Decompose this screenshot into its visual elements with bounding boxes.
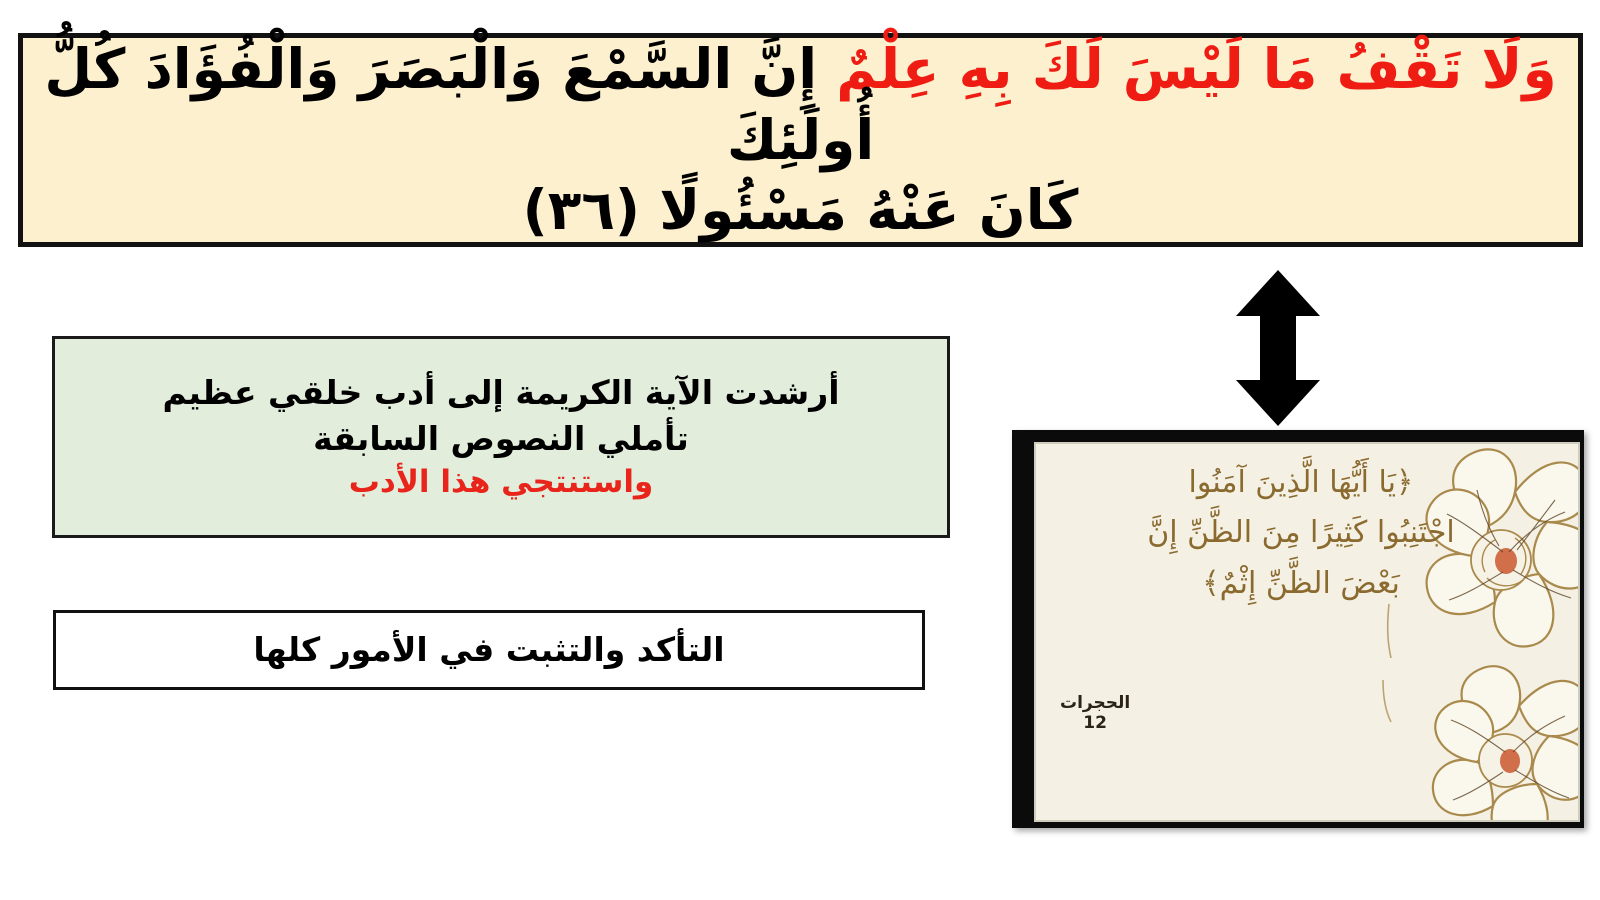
guidance-line-1: أرشدت الآية الكريمة إلى أدب خلقي عظيم: [81, 370, 921, 416]
double-headed-vertical-arrow-icon: [1232, 268, 1324, 428]
guidance-line-3-accent: واستنتجي هذا الأدب: [81, 461, 921, 504]
quran-card-inner: ﴿يَا أَيُّهَا الَّذِينَ آمَنُوا اجْتَنِب…: [1034, 442, 1580, 822]
quran-verse-line-1: ﴿يَا أَيُّهَا الَّذِينَ آمَنُوا: [1050, 458, 1552, 508]
guidance-green-box: أرشدت الآية الكريمة إلى أدب خلقي عظيم تأ…: [52, 336, 950, 538]
guidance-line-2: تأملي النصوص السابقة: [81, 416, 921, 462]
quran-source-reference: الحجرات 12: [1060, 693, 1130, 734]
quran-verse-text: ﴿يَا أَيُّهَا الَّذِينَ آمَنُوا اجْتَنِب…: [1036, 458, 1578, 609]
answer-text: التأكد والتثبت في الأمور كلها: [253, 630, 724, 670]
ayah-rest-phrase: إِنَّ السَّمْعَ وَالْبَصَرَ وَالْفُؤَادَ…: [44, 37, 874, 171]
ayah-banner-text: وَلَا تَقْفُ مَا لَيْسَ لَكَ بِهِ عِلْمٌ…: [37, 34, 1564, 245]
quran-verse-line-3: بَعْضَ الظَّنِّ إِثْمٌ﴾: [1050, 559, 1552, 609]
quran-verse-line-2: اجْتَنِبُوا كَثِيرًا مِنَ الظَّنِّ إِنَّ: [1050, 508, 1552, 558]
ayah-highlight-phrase: وَلَا تَقْفُ مَا لَيْسَ لَكَ بِهِ عِلْمٌ: [836, 37, 1556, 101]
quran-verse-card: ﴿يَا أَيُّهَا الَّذِينَ آمَنُوا اجْتَنِب…: [1012, 430, 1584, 828]
quran-surah-name: الحجرات: [1060, 693, 1130, 713]
ayah-second-line: كَانَ عَنْهُ مَسْئُولًا (٣٦): [523, 178, 1079, 242]
ayah-banner: وَلَا تَقْفُ مَا لَيْسَ لَكَ بِهِ عِلْمٌ…: [18, 33, 1583, 247]
quran-verse-number: 12: [1060, 713, 1130, 734]
answer-white-box: التأكد والتثبت في الأمور كلها: [53, 610, 925, 690]
